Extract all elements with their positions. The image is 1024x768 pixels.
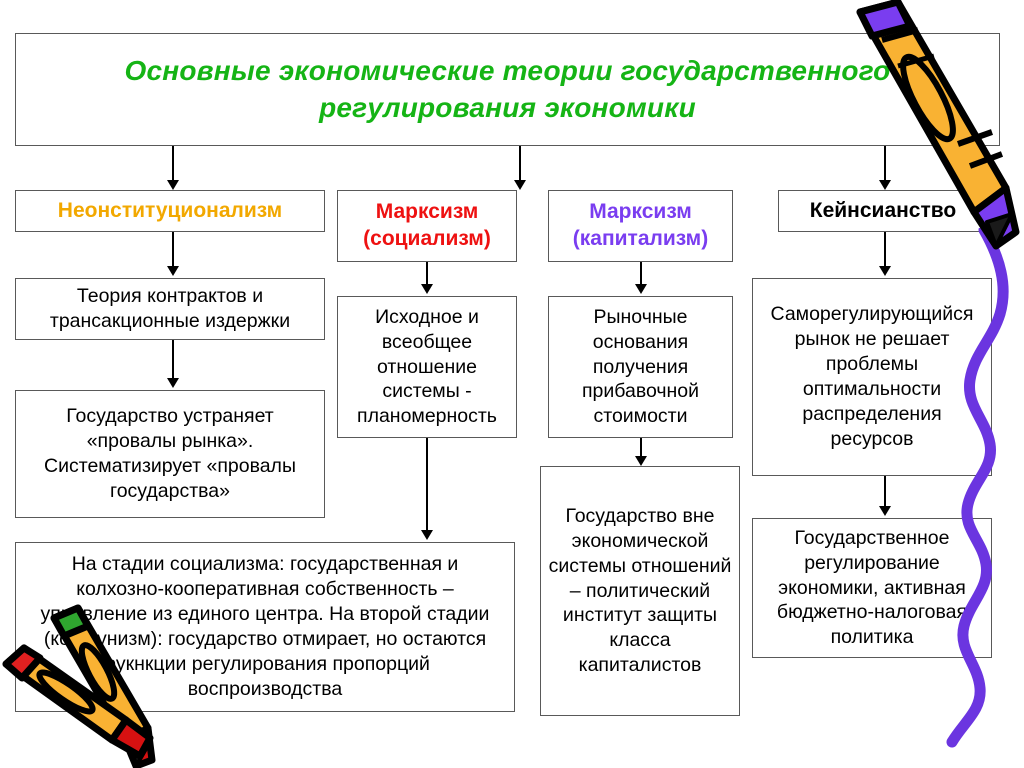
connector-col4-2 xyxy=(884,476,886,508)
connector-title-to-col4 xyxy=(884,146,886,182)
arrowhead-col3-2 xyxy=(635,456,647,466)
header-label-neoinstitutionalism: Неонституционализм xyxy=(58,198,282,225)
box-neoinstitutionalism-1[interactable]: Теория контрактов и трансакционные издер… xyxy=(15,278,325,340)
connector-col3-2 xyxy=(640,438,642,458)
header-label-keynesianism: Кейнсианство xyxy=(810,198,956,225)
box-marxism-capitalism-1[interactable]: Рыночные основания получения прибавочной… xyxy=(548,296,733,438)
box-text: Государство устраняет «провалы рынка». С… xyxy=(22,404,318,504)
box-text: Государство вне экономической системы от… xyxy=(547,504,733,679)
header-marxism-socialism[interactable]: Марксизм (социализм) xyxy=(337,190,517,262)
box-keynesianism-2[interactable]: Государственное регулирование экономики,… xyxy=(752,518,992,658)
header-marxism-capitalism[interactable]: Марксизм (капитализм) xyxy=(548,190,733,262)
header-label-marxism-capitalism-line1: Марксизм xyxy=(589,199,692,226)
arrowhead-col4-1 xyxy=(879,266,891,276)
box-text: Государственное регулирование экономики,… xyxy=(759,526,985,651)
slide-canvas: Основные экономические теории государств… xyxy=(0,0,1024,768)
arrowhead-col1-2 xyxy=(167,378,179,388)
box-marxism-capitalism-2[interactable]: Государство вне экономической системы от… xyxy=(540,466,740,716)
arrowhead-col4-2 xyxy=(879,506,891,516)
header-neoinstitutionalism[interactable]: Неонституционализм xyxy=(15,190,325,232)
connector-col4-1 xyxy=(884,232,886,268)
arrowhead-col2-2 xyxy=(421,530,433,540)
connector-col3-1 xyxy=(640,262,642,286)
arrowhead-col3-1 xyxy=(635,284,647,294)
box-keynesianism-1[interactable]: Саморегулирующийся рынок не решает пробл… xyxy=(752,278,992,476)
connector-col1-2 xyxy=(172,340,174,380)
arrowhead-title-to-col4 xyxy=(879,180,891,190)
arrowhead-col1-1 xyxy=(167,266,179,276)
arrowhead-title-to-col1 xyxy=(167,180,179,190)
arrowhead-title-to-col2 xyxy=(514,180,526,190)
header-label-marxism-socialism-line1: Марксизм xyxy=(376,199,479,226)
header-label-marxism-capitalism-line2: (капитализм) xyxy=(573,226,708,253)
box-text: Рыночные основания получения прибавочной… xyxy=(555,305,726,430)
box-marxism-socialism-1[interactable]: Исходное и всеобщее отношение системы - … xyxy=(337,296,517,438)
connector-col2-2 xyxy=(426,438,428,534)
title-line-1: Основные экономические теории государств… xyxy=(125,53,891,89)
connector-col2-1 xyxy=(426,262,428,286)
connector-col1-1 xyxy=(172,232,174,268)
box-text: Саморегулирующийся рынок не решает пробл… xyxy=(759,302,985,452)
box-neoinstitutionalism-2[interactable]: Государство устраняет «провалы рынка». С… xyxy=(15,390,325,518)
arrowhead-col2-1 xyxy=(421,284,433,294)
box-text: Исходное и всеобщее отношение системы - … xyxy=(344,305,510,430)
title-box: Основные экономические теории государств… xyxy=(15,33,1000,146)
box-text: На стадии социализма: государственная и … xyxy=(28,552,502,702)
connector-title-to-col2 xyxy=(519,146,521,182)
box-socialism-stages[interactable]: На стадии социализма: государственная и … xyxy=(15,542,515,712)
header-keynesianism[interactable]: Кейнсианство xyxy=(778,190,988,232)
box-text: Теория контрактов и трансакционные издер… xyxy=(22,284,318,334)
connector-title-to-col1 xyxy=(172,146,174,182)
title-line-2: регулирования экономики xyxy=(319,90,696,126)
header-label-marxism-socialism-line2: (социализм) xyxy=(363,226,491,253)
